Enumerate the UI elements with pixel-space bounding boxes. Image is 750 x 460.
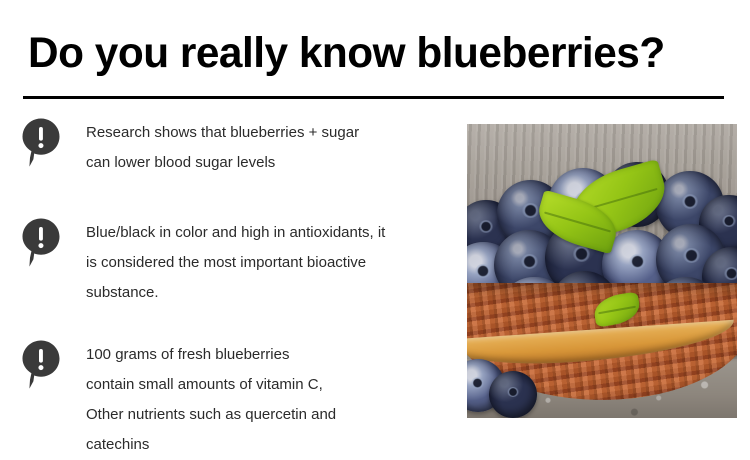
page-title: Do you really know blueberries?: [28, 27, 718, 79]
facts-list: Research shows that blueberries + sugar …: [0, 112, 460, 460]
exclamation-speech-bubble-icon: [22, 218, 60, 267]
list-item-text: Research shows that blueberries + sugar …: [86, 118, 460, 178]
exclamation-speech-bubble-icon: [22, 118, 60, 167]
blueberries-in-basket-photo: [467, 124, 737, 418]
list-item: 100 grams of fresh blueberries contain s…: [0, 340, 460, 460]
blueberry: [489, 371, 538, 418]
list-item-text: 100 grams of fresh blueberries contain s…: [86, 340, 460, 460]
list-item: Blue/black in color and high in antioxid…: [0, 218, 460, 308]
list-item-text: Blue/black in color and high in antioxid…: [86, 218, 460, 308]
exclamation-speech-bubble-icon: [22, 340, 60, 389]
title-divider: [23, 96, 724, 99]
list-item: Research shows that blueberries + sugar …: [0, 118, 460, 178]
